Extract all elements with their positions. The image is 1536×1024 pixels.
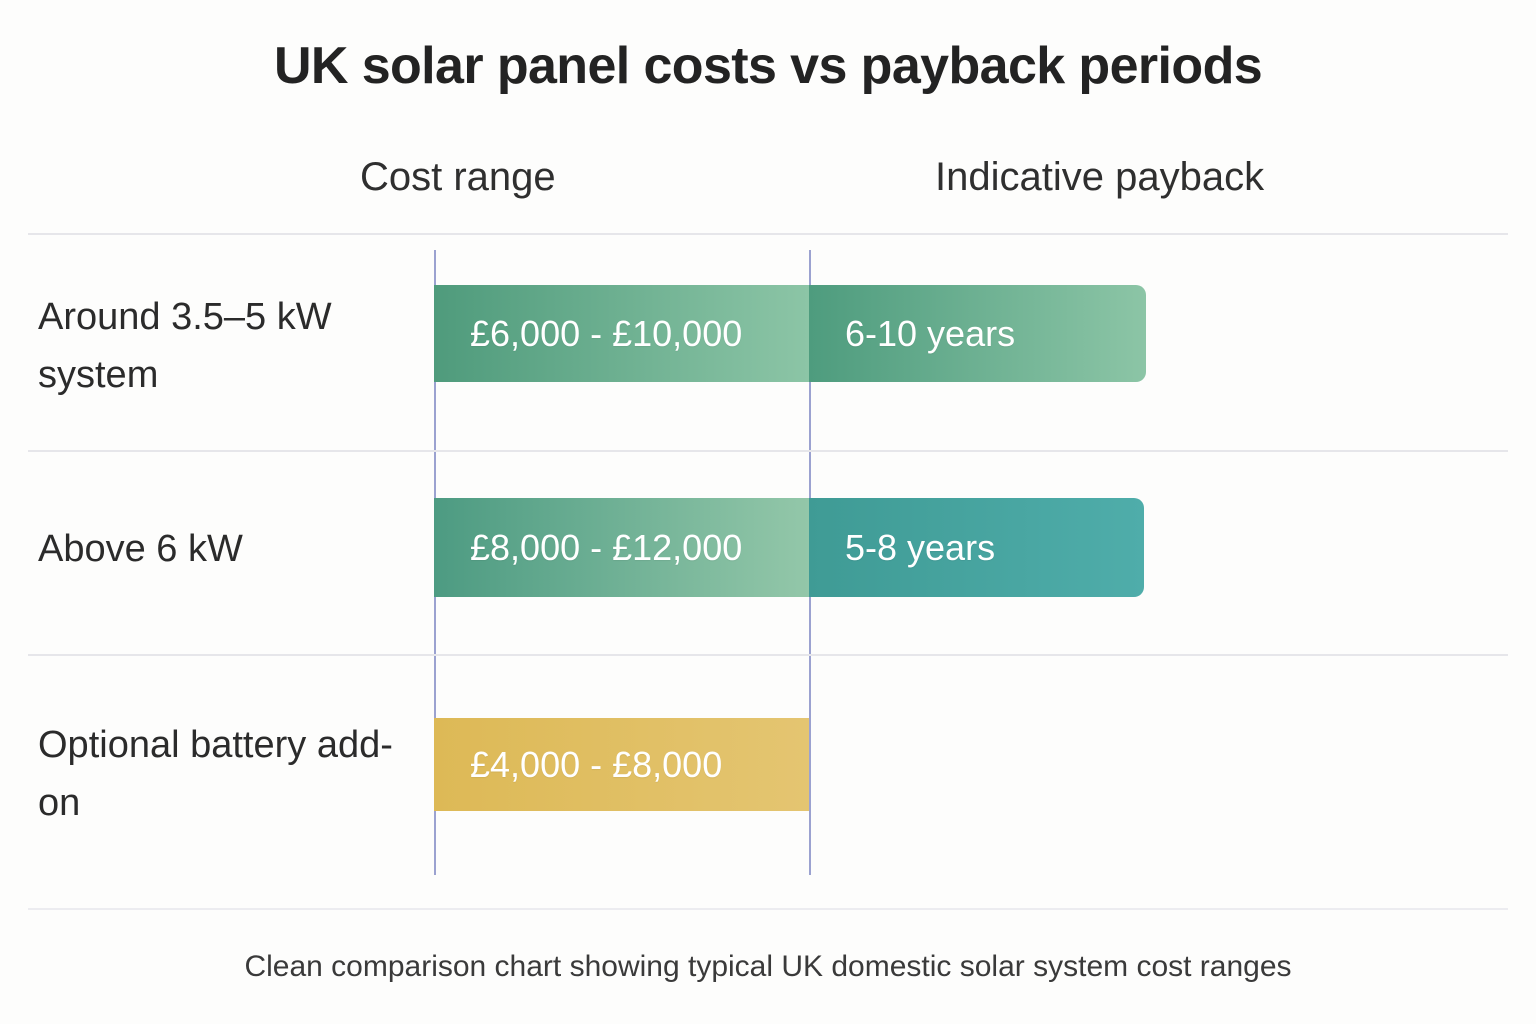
bar-cost-range: £6,000 - £10,000 bbox=[434, 285, 809, 382]
table-row: Above 6 kW £8,000 - £12,000 5-8 years bbox=[0, 452, 1536, 654]
footer-divider bbox=[28, 908, 1508, 910]
table-row: Around 3.5–5 kW system £6,000 - £10,000 … bbox=[0, 250, 1536, 450]
bar-label-payback: 6-10 years bbox=[809, 313, 1015, 355]
bar-label-cost: £6,000 - £10,000 bbox=[434, 313, 742, 355]
bar-cost-range: £4,000 - £8,000 bbox=[434, 718, 809, 811]
header-divider bbox=[28, 233, 1508, 235]
bar-label-cost: £4,000 - £8,000 bbox=[434, 744, 722, 786]
row-label: Around 3.5–5 kW system bbox=[38, 288, 418, 404]
bar-cost-range: £8,000 - £12,000 bbox=[434, 498, 809, 597]
bar-payback: 5-8 years bbox=[809, 498, 1144, 597]
chart-container: UK solar panel costs vs payback periods … bbox=[0, 0, 1536, 1024]
column-header-payback: Indicative payback bbox=[935, 155, 1264, 200]
bar-label-cost: £8,000 - £12,000 bbox=[434, 527, 742, 569]
footer-caption: Clean comparison chart showing typical U… bbox=[0, 950, 1536, 984]
bar-label-payback: 5-8 years bbox=[809, 527, 995, 569]
row-label: Above 6 kW bbox=[38, 520, 418, 578]
table-row: Optional battery add-on £4,000 - £8,000 bbox=[0, 656, 1536, 875]
column-header-cost: Cost range bbox=[360, 155, 556, 200]
row-label: Optional battery add-on bbox=[38, 716, 418, 832]
bar-payback: 6-10 years bbox=[809, 285, 1146, 382]
page-title: UK solar panel costs vs payback periods bbox=[0, 36, 1536, 96]
